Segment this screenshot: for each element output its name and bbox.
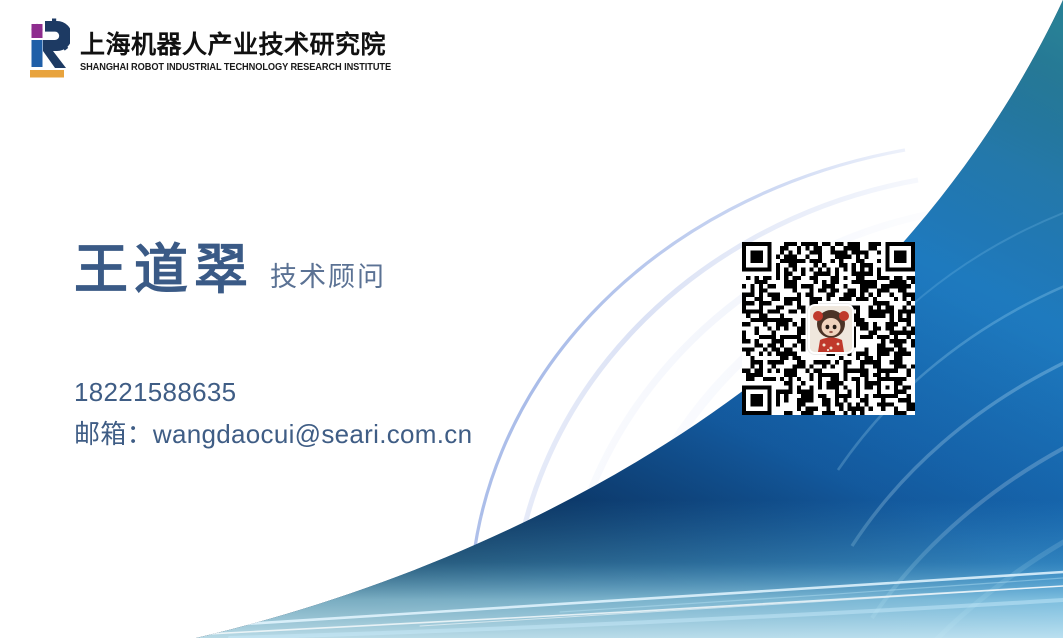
wechat-qr-code[interactable] [742, 242, 915, 415]
email-address[interactable]: 邮箱：wangdaocui@seari.com.cn [74, 420, 472, 450]
company-name-en: SHANGHAI ROBOT INDUSTRIAL TECHNOLOGY RES… [80, 62, 391, 74]
business-card: 上海机器人产业技术研究院 SHANGHAI ROBOT INDUSTRIAL T… [0, 0, 1063, 638]
iR-gear-logo-icon [22, 18, 70, 80]
identity-block: 王道翠 技术顾问 [74, 243, 386, 297]
person-title: 技术顾问 [270, 264, 386, 291]
light-streaks [150, 572, 1063, 638]
company-name-cn: 上海机器人产业技术研究院 [80, 32, 433, 59]
phone-number[interactable]: 18221588635 [74, 378, 472, 408]
logo-block: 上海机器人产业技术研究院 SHANGHAI ROBOT INDUSTRIAL T… [22, 18, 433, 80]
qr-center-avatar [808, 304, 854, 354]
contact-block: 18221588635 邮箱：wangdaocui@seari.com.cn [74, 378, 472, 450]
person-name: 王道翠 [74, 243, 254, 297]
logo-text-block: 上海机器人产业技术研究院 SHANGHAI ROBOT INDUSTRIAL T… [80, 18, 433, 74]
